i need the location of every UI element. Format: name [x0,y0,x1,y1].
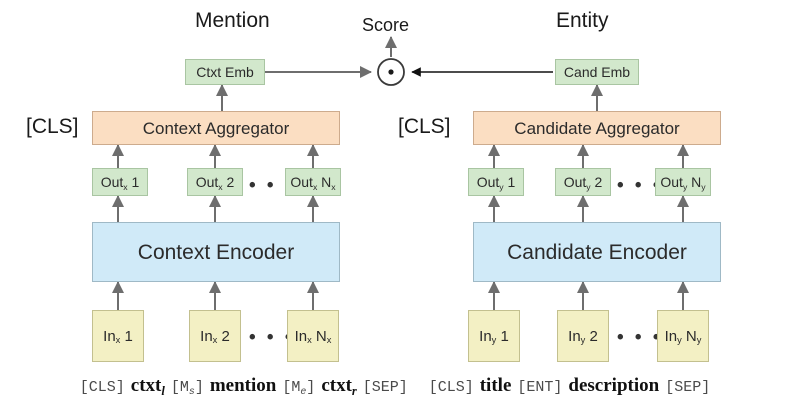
caption-mention: mention [210,375,277,396]
out-x-2-label: Outx 2 [196,175,235,189]
right-input-ellipsis: • • • [617,328,663,347]
right-cls-label: [CLS] [398,116,451,137]
candidate-encoder-label: Candidate Encoder [507,242,687,263]
in-x-2-label: Inx 2 [200,329,230,344]
caption-ent: [ENT] [517,379,562,396]
context-encoder-label: Context Encoder [138,242,294,263]
mention-title: Mention [195,10,270,31]
caption-sep-2: [SEP] [665,379,710,396]
entity-input-sequence: [CLS]title[ENT]description[SEP] [424,378,710,395]
in-y-n-label: Iny Ny [665,329,702,344]
in-y-1-label: Iny 1 [479,329,509,344]
in-x-n-box: Inx Nx [287,310,339,362]
out-y-2-box: Outy 2 [555,168,611,196]
input-sequence-caption: [CLS]ctxtl[Ms]mention[Me]ctxtr[SEP] [CLS… [0,376,790,395]
out-y-2-label: Outy 2 [564,175,603,189]
context-encoder-box: Context Encoder [92,222,340,282]
in-x-2-box: Inx 2 [189,310,241,362]
cand-emb-box: Cand Emb [555,59,639,85]
out-y-n-label: Outy Ny [660,175,705,189]
out-x-n-box: Outx Nx [285,168,341,196]
in-y-2-box: Iny 2 [557,310,609,362]
candidate-encoder-box: Candidate Encoder [473,222,721,282]
out-x-2-box: Outx 2 [187,168,243,196]
in-y-1-box: Iny 1 [468,310,520,362]
cand-emb-label: Cand Emb [564,65,630,79]
out-y-1-label: Outy 1 [477,175,516,189]
in-y-n-box: Iny Ny [657,310,709,362]
in-x-1-label: Inx 1 [103,329,133,344]
entity-title: Entity [556,10,609,31]
out-x-n-label: Outx Nx [290,175,335,189]
caption-title: title [480,375,512,396]
caption-ctxt-right: ctxtr [321,375,356,396]
in-x-1-box: Inx 1 [92,310,144,362]
candidate-aggregator-box: Candidate Aggregator [473,111,721,145]
context-aggregator-label: Context Aggregator [143,120,289,137]
out-x-1-label: Outx 1 [101,175,140,189]
caption-cls-2: [CLS] [429,379,474,396]
caption-mention-end: [Me] [282,379,315,396]
out-y-n-box: Outy Ny [655,168,711,196]
candidate-aggregator-label: Candidate Aggregator [514,120,679,137]
left-cls-label: [CLS] [26,116,79,137]
mention-input-sequence: [CLS]ctxtl[Ms]mention[Me]ctxtr[SEP] [80,378,412,395]
caption-mention-start: [Ms] [171,379,204,396]
in-y-2-label: Iny 2 [568,329,598,344]
caption-description: description [568,375,659,396]
ctxt-emb-label: Ctxt Emb [196,65,254,79]
context-aggregator-box: Context Aggregator [92,111,340,145]
caption-ctxt-left: ctxtl [131,375,165,396]
model-architecture-diagram: Mention Entity Score [CLS] Ctxt Emb Cont… [0,0,790,408]
out-y-1-box: Outy 1 [468,168,524,196]
caption-sep-1: [SEP] [363,379,408,396]
ctxt-emb-box: Ctxt Emb [185,59,265,85]
out-x-1-box: Outx 1 [92,168,148,196]
score-label: Score [362,16,409,34]
caption-cls-1: [CLS] [80,379,125,396]
in-x-n-label: Inx Nx [295,329,332,344]
